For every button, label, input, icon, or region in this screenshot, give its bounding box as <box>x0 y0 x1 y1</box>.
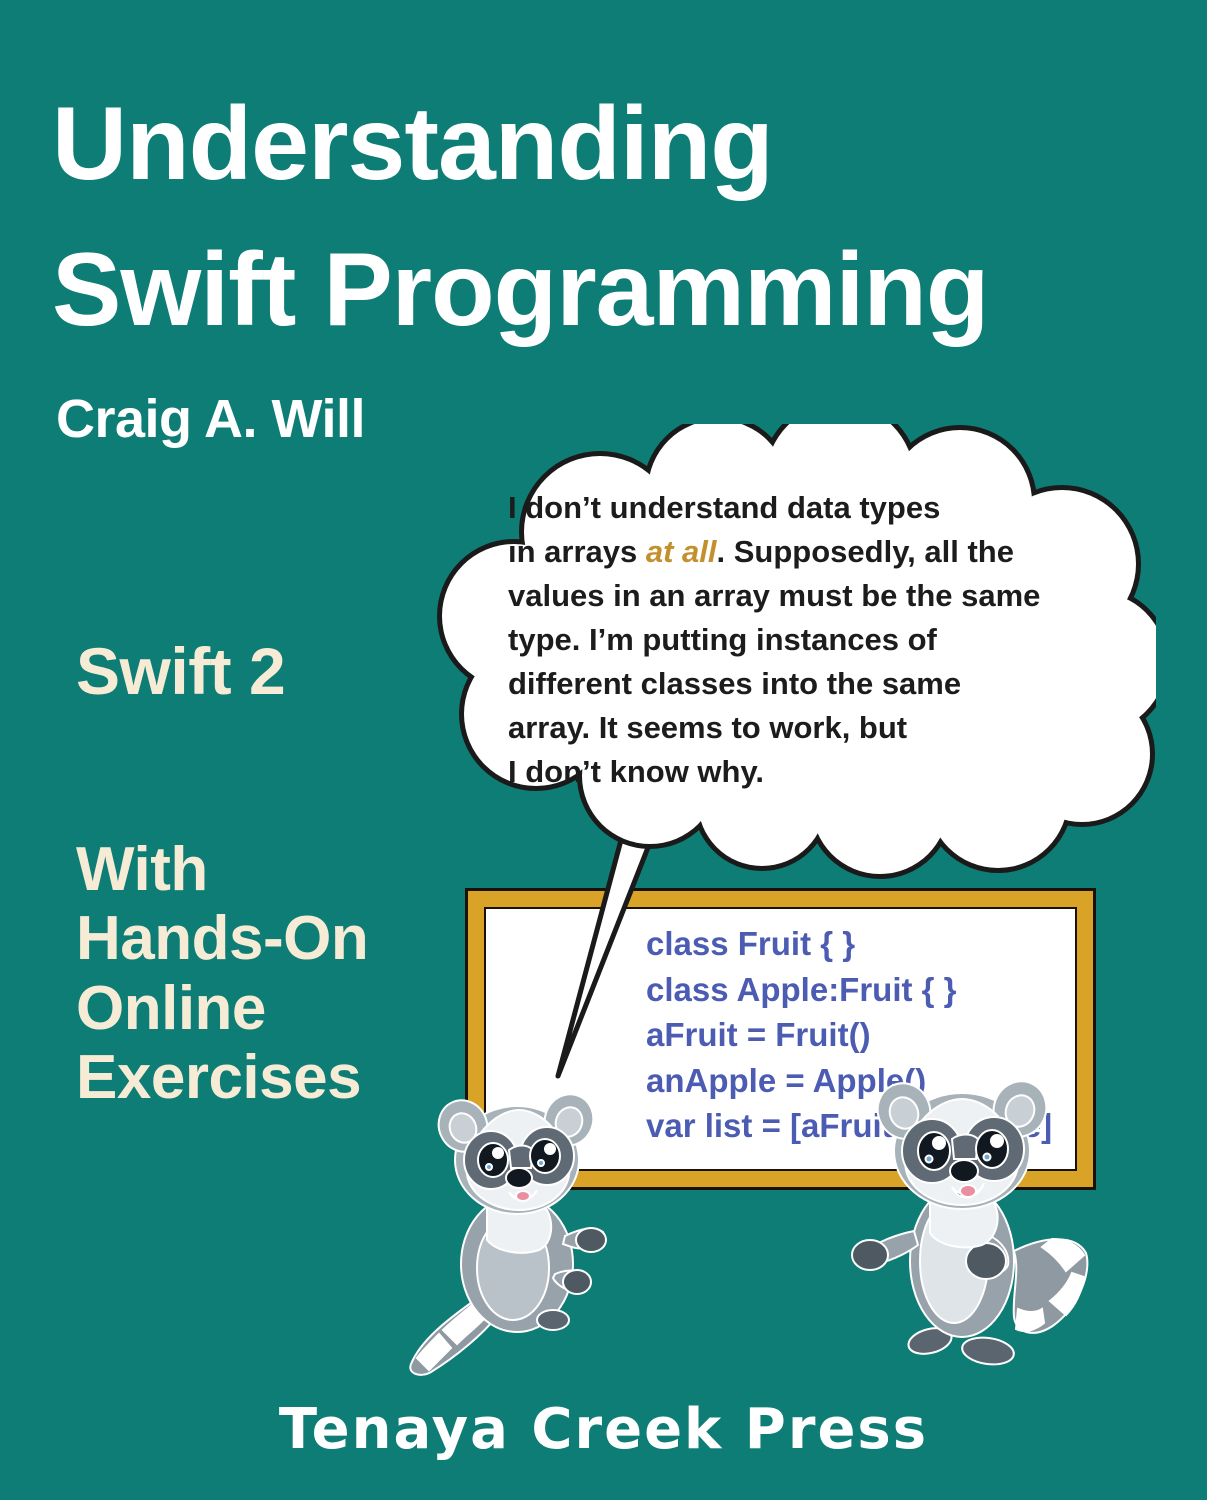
author-name: Craig A. Will <box>56 392 365 446</box>
bubble-line-6: array. It seems to work, but <box>508 706 1108 750</box>
bubble-emphasis-at-all: at all <box>646 534 717 569</box>
bubble-line-1-text: I don’t understand data types <box>508 490 940 525</box>
subtitle-line-1: With <box>76 835 368 904</box>
subtitle-block: With Hands-On Online Exercises <box>76 835 368 1113</box>
bubble-line-4-text: type. I’m putting instances of <box>508 622 937 657</box>
bubble-line-5-text: different classes into the same <box>508 666 961 701</box>
speech-bubble: I don’t understand data types in arrays … <box>432 424 1156 1114</box>
subtitle-line-4: Exercises <box>76 1043 368 1112</box>
speech-bubble-text: I don’t understand data types in arrays … <box>508 486 1108 794</box>
book-cover: Understanding Swift Programming Craig A.… <box>0 0 1207 1500</box>
bubble-line-3: values in an array must be the same <box>508 574 1108 618</box>
bubble-line-7-text: I don’t know why. <box>508 754 764 789</box>
publisher-name: Tenaya Creek Press <box>0 1402 1207 1458</box>
bubble-line-7: I don’t know why. <box>508 750 1108 794</box>
bubble-line-4: type. I’m putting instances of <box>508 618 1108 662</box>
edition-label: Swift 2 <box>76 638 285 704</box>
bubble-line-2-pre: in arrays <box>508 534 646 569</box>
page-title-line-1: Understanding <box>52 92 773 196</box>
bubble-line-1: I don’t understand data types <box>508 486 1108 530</box>
bubble-line-6-text: array. It seems to work, but <box>508 710 907 745</box>
subtitle-line-3: Online <box>76 974 368 1043</box>
bubble-line-3-text: values in an array must be the same <box>508 578 1040 613</box>
bubble-line-5: different classes into the same <box>508 662 1108 706</box>
page-title-line-2: Swift Programming <box>52 238 988 342</box>
raccoon-right-icon <box>838 1055 1093 1375</box>
subtitle-line-2: Hands-On <box>76 904 368 973</box>
raccoon-left-icon <box>405 1068 625 1378</box>
bubble-line-2: in arrays at all. Supposedly, all the <box>508 530 1108 574</box>
bubble-line-2-post: . Supposedly, all the <box>717 534 1014 569</box>
